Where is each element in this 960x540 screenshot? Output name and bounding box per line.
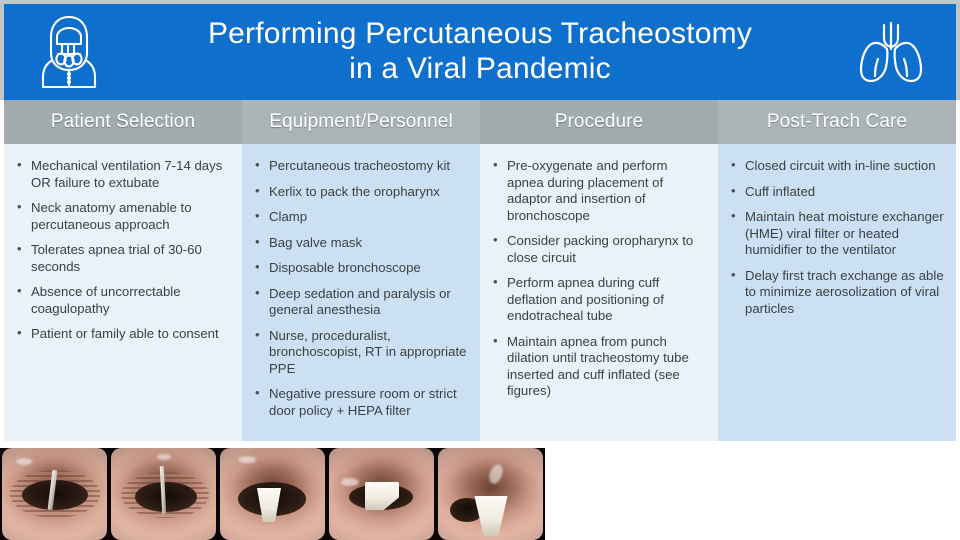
lungs-icon bbox=[852, 12, 930, 92]
list-item: Cuff inflated bbox=[728, 184, 944, 201]
slide-header: Performing Percutaneous Tracheostomy in … bbox=[0, 0, 960, 100]
title-line-1: Performing Percutaneous Tracheostomy bbox=[108, 16, 852, 51]
list-item: Absence of uncorrectable coagulopathy bbox=[14, 284, 230, 317]
list-item: Kerlix to pack the oropharynx bbox=[252, 184, 468, 201]
list-item: Patient or family able to consent bbox=[14, 326, 230, 343]
list-item: Negative pressure room or strict door po… bbox=[252, 386, 468, 419]
list-item: Deep sedation and paralysis or general a… bbox=[252, 286, 468, 319]
column-procedure: Pre-oxygenate and perform apnea during p… bbox=[480, 144, 718, 441]
title-line-2: in a Viral Pandemic bbox=[108, 51, 852, 86]
column-header-equipment-personnel: Equipment/Personnel bbox=[242, 100, 480, 144]
ppe-healthcare-worker-icon bbox=[30, 12, 108, 92]
columns-container: Mechanical ventilation 7-14 days OR fail… bbox=[4, 144, 956, 441]
bronchoscopy-photo-4 bbox=[327, 448, 436, 540]
bronchoscopy-photo-strip bbox=[0, 448, 545, 540]
list-item: Tolerates apnea trial of 30-60 seconds bbox=[14, 242, 230, 275]
list-item: Perform apnea during cuff deflation and … bbox=[490, 275, 706, 325]
bronchoscopy-photo-3 bbox=[218, 448, 327, 540]
column-header-band: Patient Selection Equipment/Personnel Pr… bbox=[4, 100, 956, 144]
list-item: Clamp bbox=[252, 209, 468, 226]
list-item: Pre-oxygenate and perform apnea during p… bbox=[490, 158, 706, 224]
list-item: Bag valve mask bbox=[252, 235, 468, 252]
list-item: Percutaneous tracheostomy kit bbox=[252, 158, 468, 175]
bullet-list-post-trach-care: Closed circuit with in-line suction Cuff… bbox=[728, 158, 944, 317]
bronchoscopy-photo-2 bbox=[109, 448, 218, 540]
list-item: Maintain heat moisture exchanger (HME) v… bbox=[728, 209, 944, 259]
list-item: Nurse, proceduralist, bronchoscopist, RT… bbox=[252, 328, 468, 378]
column-post-trach-care: Closed circuit with in-line suction Cuff… bbox=[718, 144, 956, 441]
list-item: Closed circuit with in-line suction bbox=[728, 158, 944, 175]
bronchoscopy-photo-5 bbox=[436, 448, 545, 540]
bullet-list-patient-selection: Mechanical ventilation 7-14 days OR fail… bbox=[14, 158, 230, 343]
list-item: Neck anatomy amenable to percutaneous ap… bbox=[14, 200, 230, 233]
column-equipment-personnel: Percutaneous tracheostomy kit Kerlix to … bbox=[242, 144, 480, 441]
slide-root: Performing Percutaneous Tracheostomy in … bbox=[0, 0, 960, 540]
list-item: Consider packing oropharynx to close cir… bbox=[490, 233, 706, 266]
page-title: Performing Percutaneous Tracheostomy in … bbox=[108, 16, 852, 89]
list-item: Maintain apnea from punch dilation until… bbox=[490, 334, 706, 400]
list-item: Delay first trach exchange as able to mi… bbox=[728, 268, 944, 318]
list-item: Disposable bronchoscope bbox=[252, 260, 468, 277]
bullet-list-equipment-personnel: Percutaneous tracheostomy kit Kerlix to … bbox=[252, 158, 468, 419]
column-header-patient-selection: Patient Selection bbox=[4, 100, 242, 144]
list-item: Mechanical ventilation 7-14 days OR fail… bbox=[14, 158, 230, 191]
bronchoscopy-photo-1 bbox=[0, 448, 109, 540]
bullet-list-procedure: Pre-oxygenate and perform apnea during p… bbox=[490, 158, 706, 400]
column-header-procedure: Procedure bbox=[480, 100, 718, 144]
column-patient-selection: Mechanical ventilation 7-14 days OR fail… bbox=[4, 144, 242, 441]
column-header-post-trach-care: Post-Trach Care bbox=[718, 100, 956, 144]
bottom-bar: CHEST® bbox=[0, 441, 960, 540]
